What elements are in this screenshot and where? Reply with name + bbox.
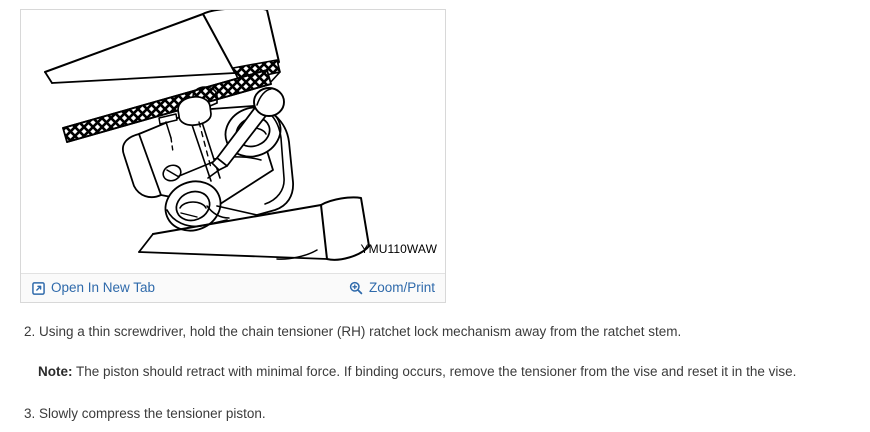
figure-panel: YMU110WAW Open In New Tab Zoom/Pri bbox=[20, 9, 446, 303]
figure-image-area: YMU110WAW bbox=[21, 10, 445, 274]
instruction-step-2: 2. Using a thin screwdriver, hold the ch… bbox=[24, 318, 848, 342]
open-in-new-tab-link[interactable]: Open In New Tab bbox=[32, 281, 155, 295]
figure-code-label: YMU110WAW bbox=[361, 242, 437, 256]
instruction-note: Note: The piston should retract with min… bbox=[24, 342, 848, 382]
instruction-step-3: 3. Slowly compress the tensioner piston. bbox=[24, 381, 848, 424]
chain-tensioner-vise-diagram bbox=[21, 10, 445, 274]
external-link-icon bbox=[32, 282, 45, 295]
note-text: The piston should retract with minimal f… bbox=[73, 364, 797, 379]
note-label: Note: bbox=[38, 364, 73, 379]
open-in-new-tab-label: Open In New Tab bbox=[51, 281, 155, 295]
zoom-print-link[interactable]: Zoom/Print bbox=[349, 281, 435, 295]
instructions-block: 2. Using a thin screwdriver, hold the ch… bbox=[24, 318, 848, 424]
zoom-print-label: Zoom/Print bbox=[369, 281, 435, 295]
figure-toolbar: Open In New Tab Zoom/Print bbox=[21, 273, 445, 302]
magnifier-plus-icon bbox=[349, 281, 363, 295]
